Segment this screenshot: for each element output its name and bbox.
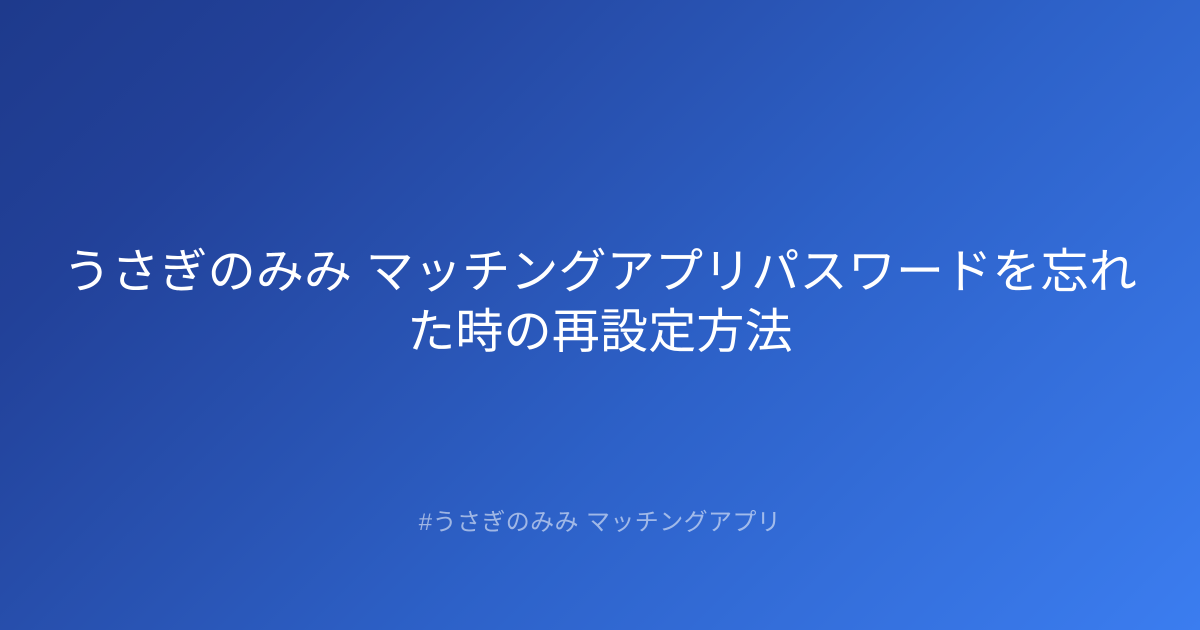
page-title: うさぎのみみ マッチングアプリパスワードを忘れた時の再設定方法 [50,243,1150,363]
og-share-card: うさぎのみみ マッチングアプリパスワードを忘れた時の再設定方法 #うさぎのみみ … [0,0,1200,630]
tag-container: #うさぎのみみ マッチングアプリ [50,506,1150,540]
hashtag-label: #うさぎのみみ マッチングアプリ [419,506,781,540]
title-container: うさぎのみみ マッチングアプリパスワードを忘れた時の再設定方法 [50,243,1150,363]
